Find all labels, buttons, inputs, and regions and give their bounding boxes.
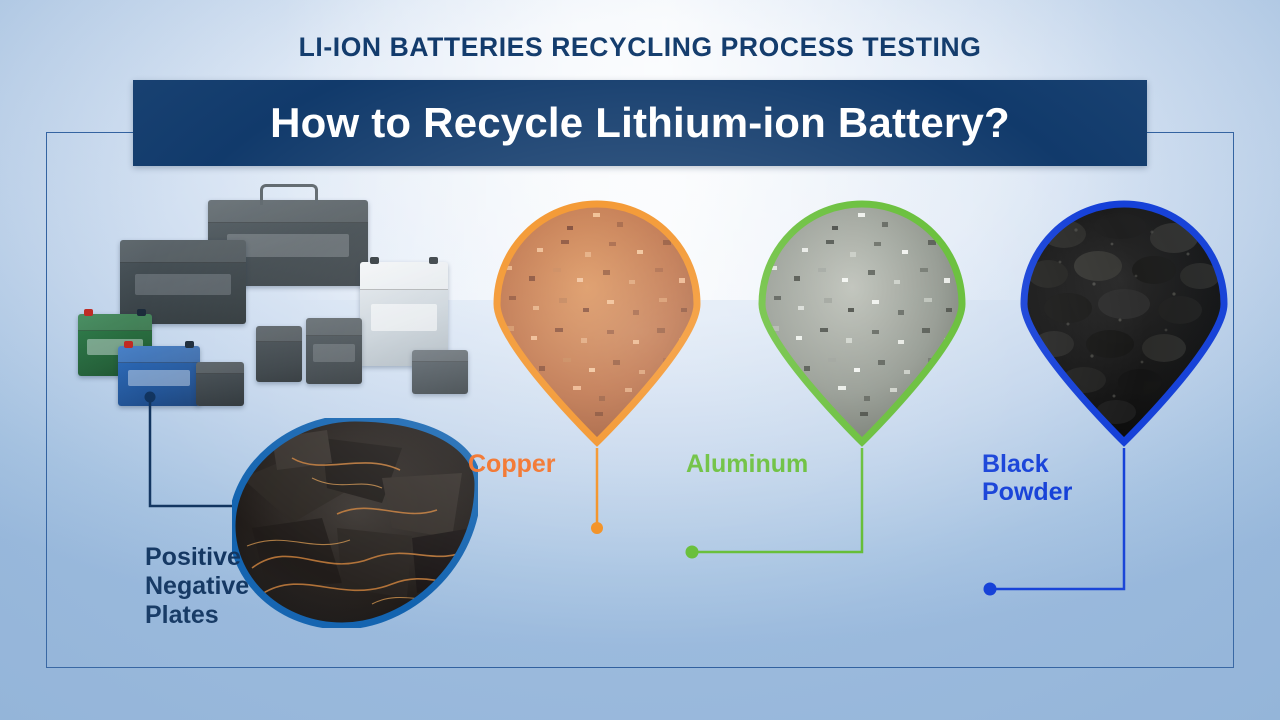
battery-block	[118, 346, 200, 406]
battery-label	[371, 304, 438, 331]
page-title: How to Recycle Lithium-ion Battery?	[270, 99, 1010, 147]
battery-terminal-negative	[137, 309, 146, 316]
aluminum-pin[interactable]	[756, 198, 968, 448]
battery-lid	[256, 326, 302, 342]
aluminum-label: Aluminum	[686, 450, 808, 478]
kicker-text: LI-ION BATTERIES RECYCLING PROCESS TESTI…	[0, 32, 1280, 63]
battery-label	[128, 370, 190, 386]
battery-lid	[412, 350, 468, 362]
battery-handle	[260, 184, 318, 205]
title-bar: How to Recycle Lithium-ion Battery?	[133, 80, 1147, 166]
battery-terminal-positive	[124, 341, 133, 348]
copper-pin-border	[491, 198, 703, 448]
battery-cluster-image	[60, 178, 480, 413]
battery-lid	[118, 346, 200, 363]
copper-label: Copper	[468, 450, 556, 478]
battery-terminal-positive	[84, 309, 93, 316]
black-powder-pin[interactable]	[1018, 198, 1230, 448]
plates-label: Positive Negative Plates	[145, 543, 249, 630]
battery-block	[412, 350, 468, 394]
infographic-canvas: LI-ION BATTERIES RECYCLING PROCESS TESTI…	[0, 0, 1280, 720]
plates-photo	[232, 418, 478, 628]
battery-block	[196, 362, 244, 406]
battery-lid	[120, 240, 246, 263]
black-powder-pin-border	[1018, 198, 1230, 448]
copper-pin[interactable]	[491, 198, 703, 448]
battery-lid	[196, 362, 244, 374]
battery-lid	[78, 314, 152, 331]
plates-texture	[232, 418, 478, 628]
battery-block	[306, 318, 362, 384]
battery-terminal-negative	[185, 341, 194, 348]
battery-label	[135, 274, 231, 296]
battery-block	[256, 326, 302, 382]
battery-terminal	[370, 257, 379, 264]
plates-callout[interactable]	[232, 418, 478, 628]
battery-lid	[360, 262, 448, 290]
battery-lid	[306, 318, 362, 336]
black-powder-label: Black Powder	[982, 450, 1072, 506]
battery-terminal	[429, 257, 438, 264]
battery-label	[313, 344, 356, 361]
aluminum-pin-border	[756, 198, 968, 448]
